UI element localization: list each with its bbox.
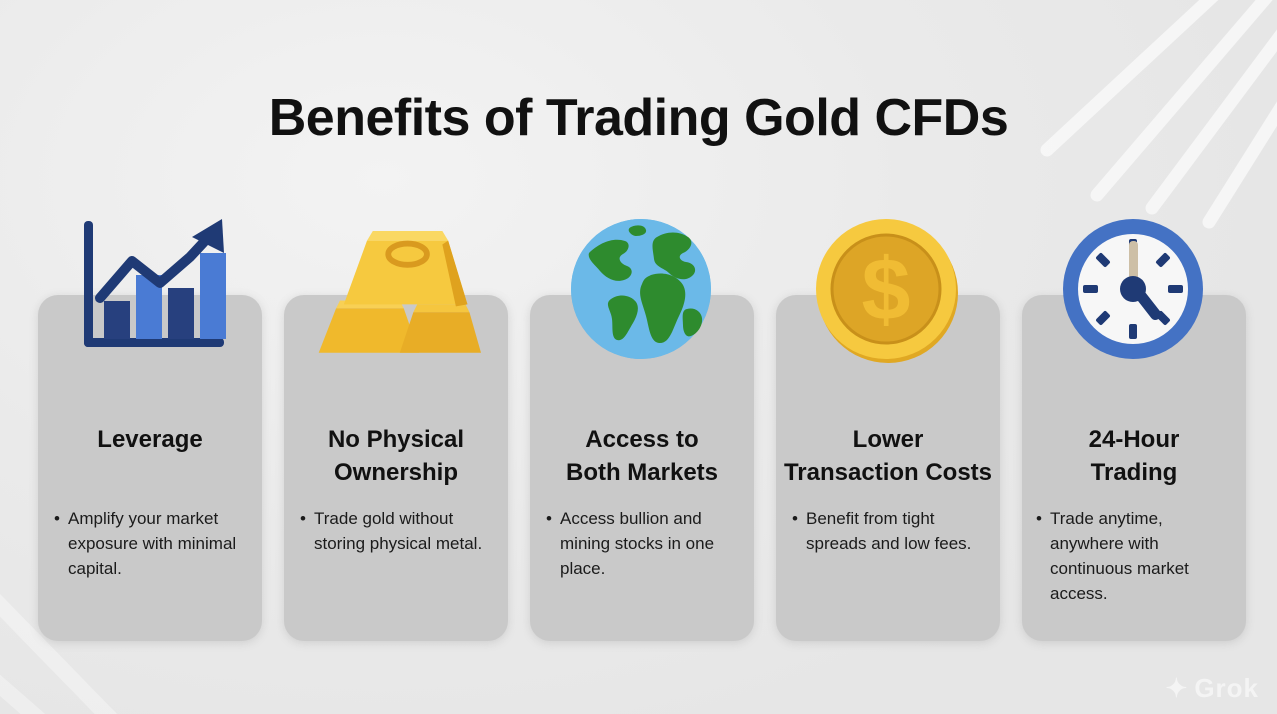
watermark-icon: ✦ bbox=[1166, 673, 1189, 704]
card-title: Lower Transaction Costs bbox=[760, 423, 1016, 489]
list-item: • Trade anytime, anywhere with continuou… bbox=[1034, 507, 1236, 607]
card-body: • Trade anytime, anywhere with continuou… bbox=[1034, 507, 1236, 607]
card-title: Access to Both Markets bbox=[522, 423, 762, 489]
list-item: • Amplify your market exposure with mini… bbox=[52, 507, 252, 582]
bullet-icon: • bbox=[1034, 507, 1050, 532]
list-item: • Trade gold without storing physical me… bbox=[298, 507, 498, 557]
benefit-card-lower-transaction-costs[interactable]: $ Lower Transaction Costs • Benefit from… bbox=[776, 295, 1000, 641]
page-title: Benefits of Trading Gold CFDs bbox=[0, 88, 1277, 148]
card-body: • Benefit from tight spreads and low fee… bbox=[790, 507, 990, 557]
bullet-icon: • bbox=[298, 507, 314, 532]
watermark-label: Grok bbox=[1194, 673, 1259, 704]
bullet-icon: • bbox=[790, 507, 806, 532]
bullet-icon: • bbox=[52, 507, 68, 532]
card-body: • Amplify your market exposure with mini… bbox=[52, 507, 252, 582]
card-body: • Trade gold without storing physical me… bbox=[298, 507, 498, 557]
card-title: Leverage bbox=[30, 423, 270, 456]
list-item-text: Amplify your market exposure with minima… bbox=[68, 507, 252, 582]
bullet-icon: • bbox=[544, 507, 560, 532]
card-title: No Physical Ownership bbox=[276, 423, 516, 489]
benefit-card-leverage[interactable]: Leverage • Amplify your market exposure … bbox=[38, 295, 262, 641]
card-title: 24-Hour Trading bbox=[1014, 423, 1254, 489]
benefit-card-24-hour-trading[interactable]: 24-Hour Trading • Trade anytime, anywher… bbox=[1022, 295, 1246, 641]
list-item-text: Benefit from tight spreads and low fees. bbox=[806, 507, 990, 557]
benefit-card-no-physical-ownership[interactable]: No Physical Ownership • Trade gold witho… bbox=[284, 295, 508, 641]
list-item-text: Trade gold without storing physical meta… bbox=[314, 507, 498, 557]
list-item: • Benefit from tight spreads and low fee… bbox=[790, 507, 990, 557]
list-item: • Access bullion and mining stocks in on… bbox=[544, 507, 744, 582]
list-item-text: Access bullion and mining stocks in one … bbox=[560, 507, 744, 582]
card-body: • Access bullion and mining stocks in on… bbox=[544, 507, 744, 582]
watermark: ✦ Grok bbox=[1166, 673, 1259, 704]
benefit-card-access-both-markets[interactable]: Access to Both Markets • Access bullion … bbox=[530, 295, 754, 641]
list-item-text: Trade anytime, anywhere with continuous … bbox=[1050, 507, 1236, 607]
benefits-card-row: Leverage • Amplify your market exposure … bbox=[38, 295, 1238, 641]
